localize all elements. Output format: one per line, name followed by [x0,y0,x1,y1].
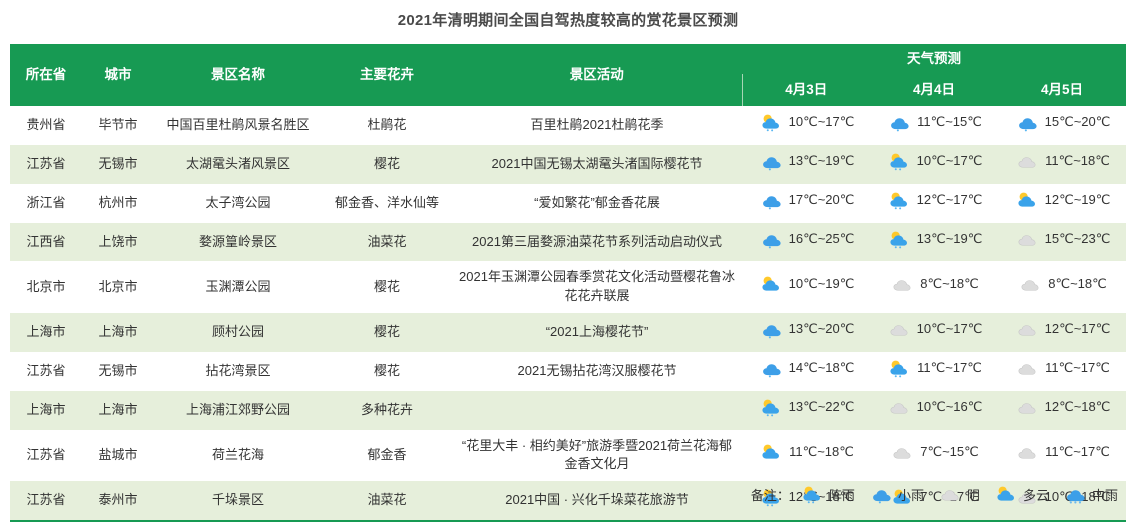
light-rain-weather-icon [758,320,784,339]
cell-main-flower: 樱花 [322,313,452,352]
weather-entry: 11℃~17℃ [1014,359,1110,378]
weather-entry: 13℃~19℃ [886,230,983,249]
weather-entry: 13℃~19℃ [758,152,855,171]
cell-scenic-name: 上海浦江郊野公园 [154,391,322,430]
cell-scenic-name: 太湖鼋头渚风景区 [154,145,322,184]
cell-city: 无锡市 [82,145,154,184]
col-header-main-flower: 主要花卉 [322,44,452,106]
cell-weather-day-3: 11℃~17℃ [998,430,1126,482]
weather-entry: 12℃~19℃ [1014,191,1111,210]
cell-scenic-name: 太子湾公园 [154,184,322,223]
weather-entry: 16℃~25℃ [758,230,855,249]
cell-city: 上海市 [82,313,154,352]
cell-weather-day-3: 11℃~17℃ [998,352,1126,391]
legend-item-label: 中雨 [1092,485,1118,504]
weather-entry: 12℃~18℃ [1014,398,1111,417]
legend-item-label: 小雨 [898,485,924,504]
light-rain-weather-icon [758,359,784,378]
table-row: 江苏省无锡市拈花湾景区樱花2021无锡拈花湾汉服樱花节14℃~18℃11℃~17… [10,352,1126,391]
temperature-range: 10℃~17℃ [917,152,983,171]
overcast-weather-icon [886,398,912,417]
cell-city: 无锡市 [82,352,154,391]
cell-main-flower: 郁金香 [322,430,452,482]
light-rain-weather-icon [758,230,784,249]
cloudy-weather-icon [758,443,784,462]
temperature-range: 15℃~20℃ [1045,113,1111,132]
legend-item: 多云 [993,485,1049,504]
cell-weather-day-2: 10℃~17℃ [870,313,998,352]
temperature-range: 7℃~15℃ [920,443,978,462]
weather-legend: 备注： 阵雨小雨阴多云中雨 [751,485,1124,504]
cell-city: 盐城市 [82,430,154,482]
cloudy-weather-icon [993,485,1019,504]
shower-weather-icon [886,191,912,210]
cell-main-flower: 油菜花 [322,481,452,521]
temperature-range: 11℃~18℃ [789,443,854,462]
temperature-range: 13℃~22℃ [789,398,855,417]
cell-scenic-activity: 2021中国 · 兴化千垛菜花旅游节 [452,481,742,521]
weather-entry: 8℃~18℃ [889,275,978,294]
cell-scenic-name: 玉渊潭公园 [154,261,322,313]
temperature-range: 10℃~17℃ [789,113,855,132]
cell-weather-day-3: 12℃~19℃ [998,184,1126,223]
weather-entry: 10℃~19℃ [758,275,855,294]
cell-weather-day-1: 10℃~19℃ [742,261,870,313]
weather-entry: 11℃~18℃ [1014,152,1110,171]
cell-weather-day-3: 12℃~18℃ [998,391,1126,430]
cloudy-weather-icon [758,275,784,294]
cell-scenic-activity: 2021第三届婺源油菜花节系列活动启动仪式 [452,223,742,262]
weather-entry: 14℃~18℃ [758,359,855,378]
overcast-weather-icon [1014,152,1040,171]
cell-weather-day-1: 13℃~22℃ [742,391,870,430]
cell-scenic-activity: “花里大丰 · 相约美好”旅游季暨2021荷兰花海郁金香文化月 [452,430,742,482]
cell-weather-day-1: 16℃~25℃ [742,223,870,262]
cell-scenic-activity: 2021中国无锡太湖鼋头渚国际樱花节 [452,145,742,184]
legend-item: 阵雨 [799,485,855,504]
col-header-scenic-activity: 景区活动 [452,44,742,106]
cell-province: 江西省 [10,223,82,262]
cell-city: 北京市 [82,261,154,313]
overcast-weather-icon [1014,359,1040,378]
cell-province: 江苏省 [10,352,82,391]
temperature-range: 12℃~19℃ [1045,191,1111,210]
table-row: 贵州省毕节市中国百里杜鹃风景名胜区杜鹃花百里杜鹃2021杜鹃花季10℃~17℃1… [10,106,1126,145]
cell-weather-day-1: 17℃~20℃ [742,184,870,223]
table-row: 上海市上海市顾村公园樱花“2021上海樱花节”13℃~20℃10℃~17℃12℃… [10,313,1126,352]
temperature-range: 13℃~19℃ [789,152,855,171]
temperature-range: 12℃~17℃ [917,191,983,210]
temperature-range: 11℃~17℃ [1045,359,1110,378]
cell-city: 上饶市 [82,223,154,262]
table-row: 浙江省杭州市太子湾公园郁金香、洋水仙等“爱如繁花”郁金香花展17℃~20℃12℃… [10,184,1126,223]
cell-province: 江苏省 [10,145,82,184]
light-rain-weather-icon [886,113,912,132]
cell-weather-day-2: 8℃~18℃ [870,261,998,313]
cell-scenic-name: 婺源篁岭景区 [154,223,322,262]
cell-province: 上海市 [10,313,82,352]
weather-entry: 10℃~17℃ [886,152,983,171]
cell-main-flower: 杜鹃花 [322,106,452,145]
table-head: 所在省 城市 景区名称 主要花卉 景区活动 天气预测 4月3日 4月4日 4月5… [10,44,1126,106]
table-row: 江西省上饶市婺源篁岭景区油菜花2021第三届婺源油菜花节系列活动启动仪式16℃~… [10,223,1126,262]
col-header-day-1: 4月3日 [742,74,870,106]
temperature-range: 15℃~23℃ [1045,230,1111,249]
cell-scenic-name: 拈花湾景区 [154,352,322,391]
weather-forecast-table-page: 2021年清明期间全国自驾热度较高的赏花景区预测 所在省 城市 景区名称 主要花… [0,0,1136,510]
header-row-group: 所在省 城市 景区名称 主要花卉 景区活动 天气预测 [10,44,1126,74]
cloudy-weather-icon [1014,191,1040,210]
temperature-range: 10℃~19℃ [789,275,855,294]
cell-weather-day-1: 11℃~18℃ [742,430,870,482]
legend-item: 小雨 [868,485,924,504]
cell-weather-day-1: 10℃~17℃ [742,106,870,145]
cell-weather-day-1: 13℃~19℃ [742,145,870,184]
weather-entry: 13℃~20℃ [758,320,855,339]
legend-item-label: 多云 [1023,485,1049,504]
cell-scenic-activity: “2021上海樱花节” [452,313,742,352]
cell-weather-day-1: 13℃~20℃ [742,313,870,352]
cell-weather-day-3: 11℃~18℃ [998,145,1126,184]
cell-city: 毕节市 [82,106,154,145]
temperature-range: 11℃~18℃ [1045,152,1110,171]
weather-entry: 15℃~23℃ [1014,230,1111,249]
col-header-day-2: 4月4日 [870,74,998,106]
cell-scenic-activity: 2021年玉渊潭公园春季赏花文化活动暨樱花鲁冰花花卉联展 [452,261,742,313]
temperature-range: 13℃~19℃ [917,230,983,249]
temperature-range: 10℃~17℃ [917,320,983,339]
cell-main-flower: 樱花 [322,261,452,313]
cell-weather-day-3: 8℃~18℃ [998,261,1126,313]
temperature-range: 11℃~17℃ [917,359,982,378]
col-header-weather-forecast: 天气预测 [742,44,1126,74]
overcast-weather-icon [889,275,915,294]
page-title: 2021年清明期间全国自驾热度较高的赏花景区预测 [0,0,1136,30]
light-rain-weather-icon [758,152,784,171]
weather-entry: 12℃~17℃ [886,191,983,210]
cell-weather-day-3: 15℃~23℃ [998,223,1126,262]
temperature-range: 17℃~20℃ [789,191,855,210]
cell-province: 上海市 [10,391,82,430]
temperature-range: 12℃~17℃ [1045,320,1111,339]
cell-main-flower: 樱花 [322,352,452,391]
cell-main-flower: 多种花卉 [322,391,452,430]
cell-main-flower: 郁金香、洋水仙等 [322,184,452,223]
temperature-range: 11℃~15℃ [917,113,982,132]
legend-item: 阴 [937,485,980,504]
cell-main-flower: 油菜花 [322,223,452,262]
weather-entry: 10℃~17℃ [886,320,983,339]
table-row: 江苏省无锡市太湖鼋头渚风景区樱花2021中国无锡太湖鼋头渚国际樱花节13℃~19… [10,145,1126,184]
weather-entry: 11℃~17℃ [886,359,982,378]
weather-entry: 15℃~20℃ [1014,113,1111,132]
table-body: 贵州省毕节市中国百里杜鹃风景名胜区杜鹃花百里杜鹃2021杜鹃花季10℃~17℃1… [10,106,1126,521]
cell-weather-day-3: 15℃~20℃ [998,106,1126,145]
cell-city: 上海市 [82,391,154,430]
cell-city: 泰州市 [82,481,154,521]
temperature-range: 10℃~16℃ [917,398,983,417]
temperature-range: 13℃~20℃ [789,320,855,339]
cell-main-flower: 樱花 [322,145,452,184]
col-header-day-3: 4月5日 [998,74,1126,106]
shower-weather-icon [886,152,912,171]
cell-weather-day-2: 7℃~15℃ [870,430,998,482]
weather-entry: 13℃~22℃ [758,398,855,417]
cell-weather-day-2: 10℃~17℃ [870,145,998,184]
overcast-weather-icon [1014,320,1040,339]
col-header-scenic-name: 景区名称 [154,44,322,106]
weather-entry: 11℃~17℃ [1014,443,1110,462]
cell-scenic-activity: “爱如繁花”郁金香花展 [452,184,742,223]
col-header-province: 所在省 [10,44,82,106]
cell-province: 浙江省 [10,184,82,223]
cell-province: 江苏省 [10,481,82,521]
cell-weather-day-2: 13℃~19℃ [870,223,998,262]
cell-weather-day-2: 12℃~17℃ [870,184,998,223]
overcast-weather-icon [1017,275,1043,294]
weather-entry: 7℃~15℃ [889,443,978,462]
shower-weather-icon [758,113,784,132]
cell-weather-day-1: 14℃~18℃ [742,352,870,391]
light-rain-weather-icon [758,191,784,210]
cell-scenic-name: 中国百里杜鹃风景名胜区 [154,106,322,145]
cell-province: 贵州省 [10,106,82,145]
weather-entry: 8℃~18℃ [1017,275,1106,294]
cell-weather-day-2: 11℃~17℃ [870,352,998,391]
cell-province: 北京市 [10,261,82,313]
temperature-range: 16℃~25℃ [789,230,855,249]
shower-weather-icon [886,230,912,249]
temperature-range: 12℃~18℃ [1045,398,1111,417]
legend-item-label: 阴 [967,485,980,504]
cell-province: 江苏省 [10,430,82,482]
shower-weather-icon [758,398,784,417]
weather-entry: 10℃~16℃ [886,398,983,417]
cell-scenic-activity [452,391,742,430]
cell-city: 杭州市 [82,184,154,223]
legend-item: 中雨 [1062,485,1118,504]
legend-label: 备注： [751,485,790,504]
cell-scenic-name: 顾村公园 [154,313,322,352]
light-rain-weather-icon [868,485,894,504]
weather-entry: 11℃~18℃ [758,443,854,462]
scenic-weather-table: 所在省 城市 景区名称 主要花卉 景区活动 天气预测 4月3日 4月4日 4月5… [10,44,1126,522]
table-row: 北京市北京市玉渊潭公园樱花2021年玉渊潭公园春季赏花文化活动暨樱花鲁冰花花卉联… [10,261,1126,313]
table-row: 江苏省盐城市荷兰花海郁金香“花里大丰 · 相约美好”旅游季暨2021荷兰花海郁金… [10,430,1126,482]
shower-weather-icon [799,485,825,504]
overcast-weather-icon [1014,230,1040,249]
col-header-city: 城市 [82,44,154,106]
cell-weather-day-2: 10℃~16℃ [870,391,998,430]
overcast-weather-icon [937,485,963,504]
temperature-range: 14℃~18℃ [789,359,855,378]
legend-item-label: 阵雨 [829,485,855,504]
shower-weather-icon [886,359,912,378]
cell-scenic-name: 荷兰花海 [154,430,322,482]
weather-entry: 10℃~17℃ [758,113,855,132]
weather-entry: 11℃~15℃ [886,113,982,132]
overcast-weather-icon [886,320,912,339]
temperature-range: 8℃~18℃ [1048,275,1106,294]
cell-weather-day-2: 11℃~15℃ [870,106,998,145]
weather-entry: 12℃~17℃ [1014,320,1111,339]
table-row: 上海市上海市上海浦江郊野公园多种花卉13℃~22℃10℃~16℃12℃~18℃ [10,391,1126,430]
moderate-rain-weather-icon [1062,485,1088,504]
overcast-weather-icon [889,443,915,462]
overcast-weather-icon [1014,443,1040,462]
weather-entry: 17℃~20℃ [758,191,855,210]
cell-scenic-activity: 百里杜鹃2021杜鹃花季 [452,106,742,145]
cell-weather-day-3: 12℃~17℃ [998,313,1126,352]
temperature-range: 8℃~18℃ [920,275,978,294]
cell-scenic-activity: 2021无锡拈花湾汉服樱花节 [452,352,742,391]
temperature-range: 11℃~17℃ [1045,443,1110,462]
cell-scenic-name: 千垛景区 [154,481,322,521]
overcast-weather-icon [1014,398,1040,417]
light-rain-weather-icon [1014,113,1040,132]
